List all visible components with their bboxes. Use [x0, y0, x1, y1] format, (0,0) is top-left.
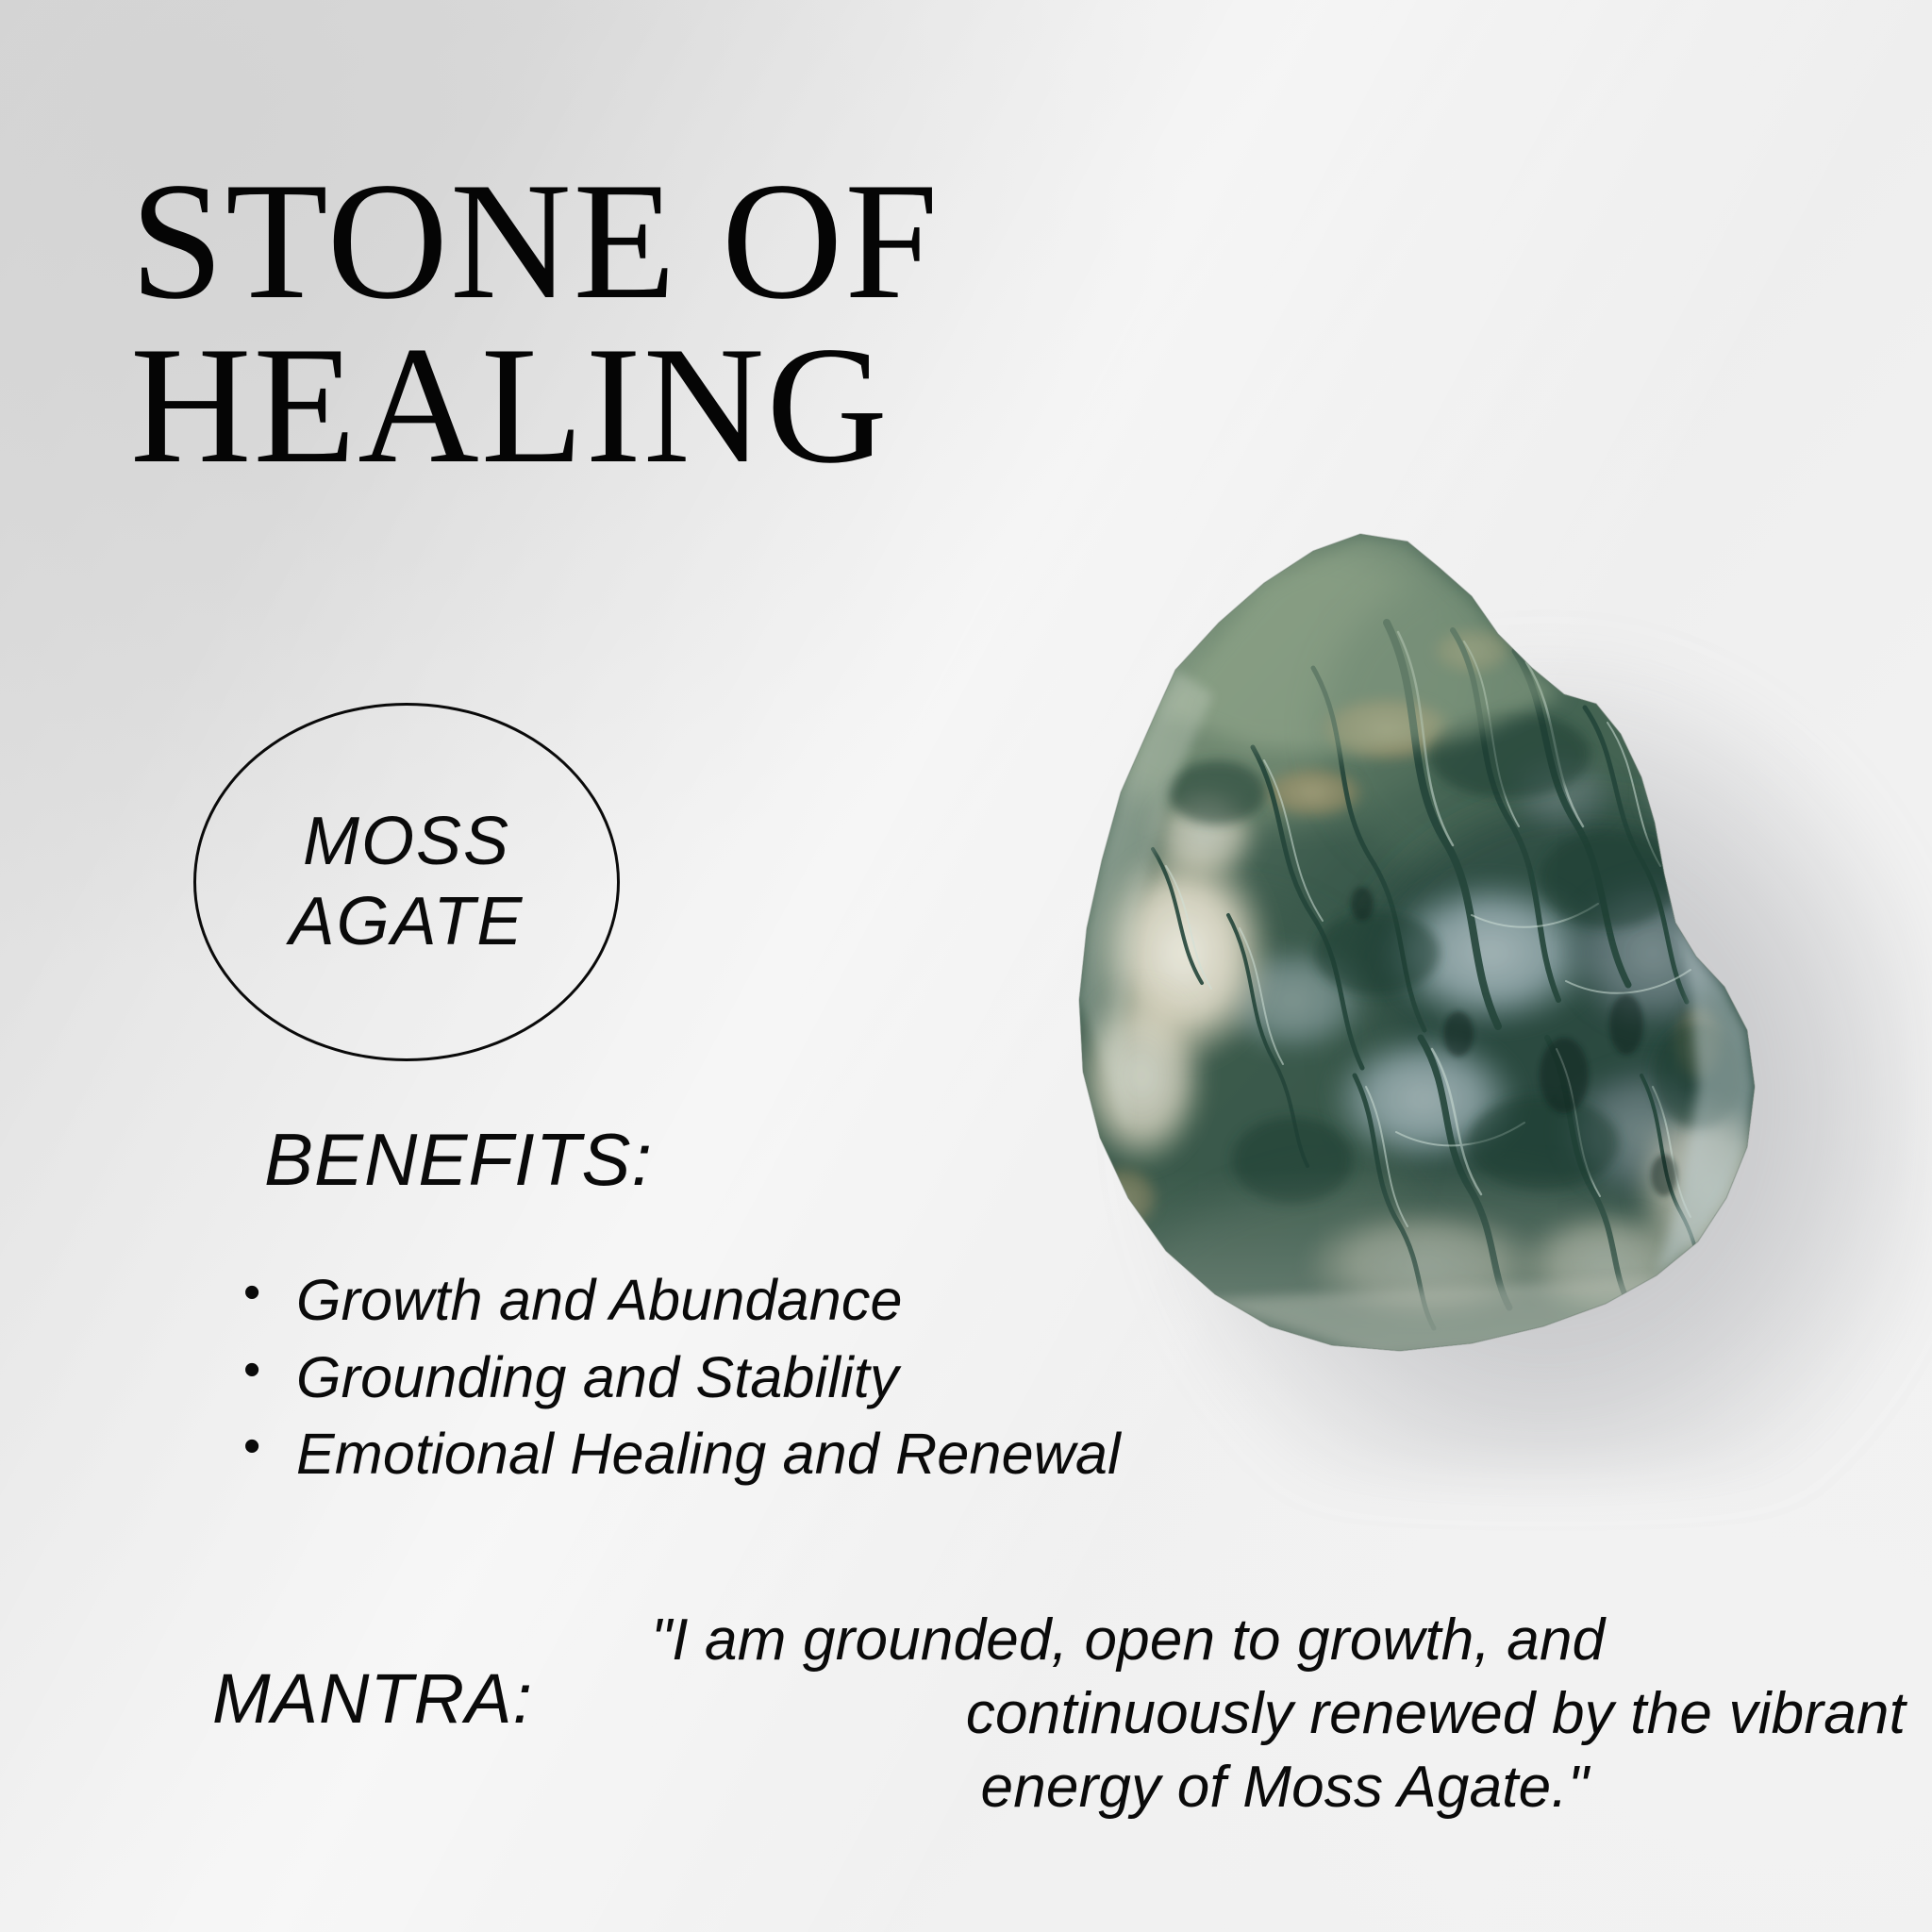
poster-canvas: STONE OF HEALING MOSS AGATE BENEFITS: Gr… [0, 0, 1932, 1932]
badge-line-2: AGATE [290, 882, 525, 962]
title-line-1: STONE OF [130, 158, 1074, 323]
stone-name-badge: MOSS AGATE [193, 703, 620, 1061]
list-item: Grounding and Stability [243, 1340, 1121, 1417]
stone-name-badge-label: MOSS AGATE [290, 802, 525, 962]
title-line-2: HEALING [130, 323, 1074, 487]
mantra-line-2: continuously renewed by the vibrant [651, 1677, 1906, 1751]
mantra-quote: "I am grounded, open to growth, and cont… [651, 1604, 1906, 1824]
mantra-label: MANTRA: [212, 1658, 533, 1739]
mantra-line-1: "I am grounded, open to growth, and [651, 1604, 1906, 1677]
mantra-line-3: energy of Moss Agate." [651, 1751, 1906, 1824]
list-item: Emotional Healing and Renewal [243, 1416, 1121, 1493]
page-title: STONE OF HEALING [130, 158, 1074, 488]
benefits-heading: BENEFITS: [264, 1117, 653, 1203]
badge-line-1: MOSS [290, 802, 525, 882]
stone-image-stage [981, 509, 1924, 1509]
benefits-list: Growth and Abundance Grounding and Stabi… [243, 1262, 1121, 1493]
list-item: Growth and Abundance [243, 1262, 1121, 1340]
